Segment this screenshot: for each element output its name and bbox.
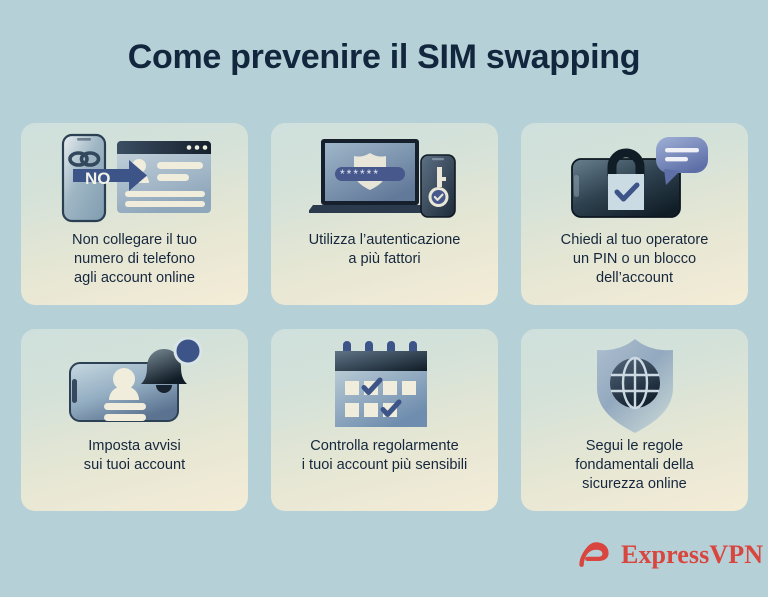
shield-globe-icon xyxy=(521,329,748,437)
card-carrier-pin-or-account-lock: Chiedi al tuo operatore un PIN o un bloc… xyxy=(521,123,748,305)
phone-padlock-check-speech-bubble-icon xyxy=(521,123,748,231)
card-check-sensitive-accounts: Controlla regolarmente i tuoi account pi… xyxy=(271,329,498,511)
card-label: Controlla regolarmente i tuoi account pi… xyxy=(292,437,478,475)
calendar-checkmarks-icon xyxy=(271,329,498,437)
tips-grid: NO Non collegare il tuo numero di telefo… xyxy=(21,123,747,511)
page-title: Come prevenire il SIM swapping xyxy=(0,38,768,77)
laptop-shield-password-phone-key-icon: ****** xyxy=(271,123,498,231)
card-label: Utilizza l’autenticazione a più fattori xyxy=(299,231,471,269)
card-label: Non collegare il tuo numero di telefono … xyxy=(62,231,207,288)
svg-text:******: ****** xyxy=(340,167,380,181)
card-set-account-alerts: Imposta avvisi sui tuoi account xyxy=(21,329,248,511)
phone-profile-bell-notification-icon xyxy=(21,329,248,437)
card-follow-online-security-rules: Segui le regole fondamentali della sicur… xyxy=(521,329,748,511)
phone-chain-link-no-arrow-browser-icon: NO xyxy=(21,123,248,231)
card-label: Segui le regole fondamentali della sicur… xyxy=(565,437,703,494)
card-no-link-phone-to-accounts: NO Non collegare il tuo numero di telefo… xyxy=(21,123,248,305)
card-label: Imposta avvisi sui tuoi account xyxy=(74,437,195,475)
card-label: Chiedi al tuo operatore un PIN o un bloc… xyxy=(551,231,719,288)
expressvpn-mark-icon xyxy=(578,538,612,572)
card-multi-factor-authentication: ****** Utilizza l’autenticazione a più f… xyxy=(271,123,498,305)
svg-text:NO: NO xyxy=(85,169,111,188)
expressvpn-logo: ExpressVPN xyxy=(578,538,763,572)
expressvpn-wordmark: ExpressVPN xyxy=(621,540,763,570)
